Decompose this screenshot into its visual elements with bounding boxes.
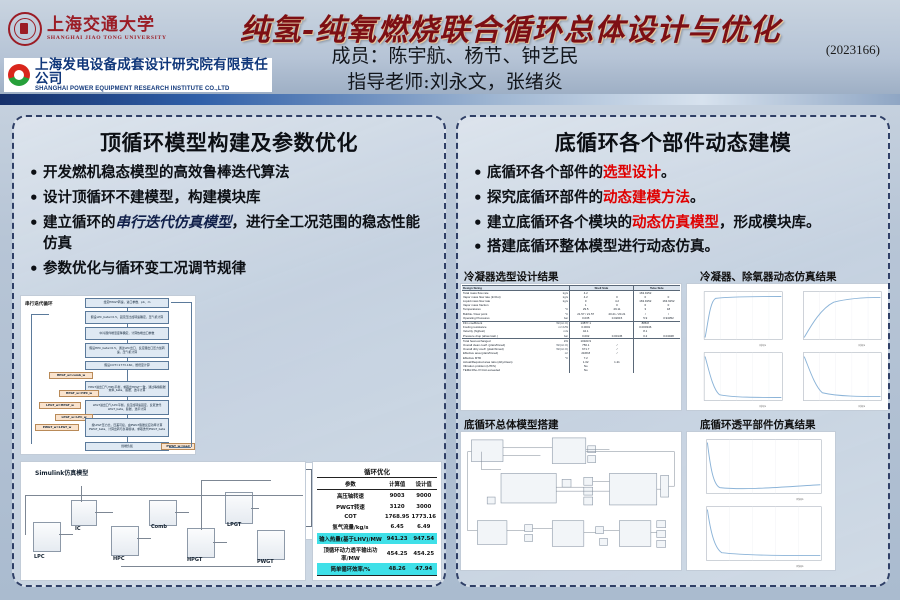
bullet-item: 建立循环的串行迭代仿真模型，进行全工况范围的稳态性能仿真 xyxy=(28,213,434,257)
table-row: 简单循环效率/%48.2647.94 xyxy=(317,563,437,575)
table-cell: 氢气流量/kg/s xyxy=(317,522,384,533)
table-cell: 47.94 xyxy=(410,563,437,575)
simulink-block-label-lpc: LPC xyxy=(34,554,45,560)
bullet-item: 设计顶循环不建模型，构建模块库 xyxy=(28,188,434,210)
hx-row: TEMA Rho-V² limit exceededNo xyxy=(462,369,680,373)
svg-text:时间/s: 时间/s xyxy=(796,564,804,568)
bullet-item: 探究底循环部件的动态建模方法。 xyxy=(472,188,878,210)
sjtu-seal-icon xyxy=(8,12,42,46)
simulink-block-label-hpc: HPC xyxy=(113,556,125,562)
svg-text:时间/s: 时间/s xyxy=(859,404,866,408)
flow-box: 给定PWGT转速，进口参数、pb、m xyxy=(85,298,169,308)
table-cell: COT xyxy=(317,513,384,522)
table-cell: 6.49 xyxy=(410,522,437,533)
simulink-block xyxy=(187,528,215,558)
simulink-block xyxy=(257,530,285,560)
serial-iteration-flowchart: 串行迭代循环 给定PWGT转速，进口参数、pb、m 假设LPC_beta=0.5… xyxy=(20,295,196,455)
simulink-block-label-lpgt: LPGT xyxy=(227,522,241,528)
right-panel-title: 底循环各个部件动态建模 xyxy=(458,127,888,157)
table-cell: 1773.16 xyxy=(410,513,437,522)
authors-block: 成员：陈宇航、杨节、钟艺民 指导老师:刘永文，张绪炎 xyxy=(175,44,735,95)
flow-box: 终端负载 xyxy=(85,442,169,451)
table-header-row: 参数计算值设计值 xyxy=(317,478,437,490)
cycle-optimization-table: 循环优化 参数计算值设计值 高压轴转速90039000PWGT转速3120300… xyxy=(317,464,437,576)
flow-box: 假设COT=1773.16K，燃烧室计算 xyxy=(85,361,169,370)
flow-box: 按LPGT压力比，压差可接，由PWGT膨胀反应功率计算PWGT_beta、计算出… xyxy=(85,418,169,437)
table-cell: 3120 xyxy=(384,501,411,512)
right-bullet-list: 底循环各个部件的选型设计。探究底循环部件的动态建模方法。建立底循环各个模块的动态… xyxy=(458,163,888,259)
bullet-item: 参数优化与循环变工况调节规律 xyxy=(28,259,434,281)
caption-condenser-dynamic: 冷凝器、除氧器动态仿真结果 xyxy=(700,269,837,284)
simulink-block xyxy=(111,526,139,556)
condenser-dynamic-charts: 时间/s时间/s 时间/s时间/s xyxy=(686,283,890,411)
hx-tube-value xyxy=(633,369,657,373)
table-cell: 简单循环效率/% xyxy=(317,563,384,575)
table-row: 输入热量(基于LHV)/MW941.23947.54 xyxy=(317,533,437,544)
bullet-text: 。 xyxy=(690,190,705,206)
bullet-text: 底循环各个部件的 xyxy=(487,165,603,181)
simulink-label: Simulink仿真模型 xyxy=(35,468,88,477)
flow-box: 假设LPC_beta=0.5，固定压比加转速确定，压气机计算 xyxy=(85,311,169,324)
table-cell: 1768.95 xyxy=(384,513,411,522)
table-cell: 6.45 xyxy=(384,522,411,533)
bullet-emphasis-italic: 串行迭代仿真模型 xyxy=(116,215,232,231)
bullet-text: 探究底循环部件的 xyxy=(487,190,603,206)
table-cell: 3000 xyxy=(410,501,437,512)
table-cell: 947.54 xyxy=(410,533,437,544)
table-cell: 高压轴转速 xyxy=(317,490,384,502)
cycle-optimization-table-figure: 循环优化 参数计算值设计值 高压轴转速90039000PWGT转速3120300… xyxy=(312,461,442,581)
caption-turbine-sim: 底循环透平部件仿真结果 xyxy=(700,417,816,432)
simulink-block xyxy=(33,522,61,552)
table-cell: PWGT转速 xyxy=(317,501,384,512)
table-row: 氢气流量/kg/s6.456.49 xyxy=(317,522,437,533)
simulink-block-label-hpgt: HPGT xyxy=(187,557,202,563)
bullet-item: 搭建底循环整体模型进行动态仿真。 xyxy=(472,237,878,259)
bullet-emphasis-red: 动态仿真模型 xyxy=(632,215,719,231)
turbine-sim-svg: 时间/s时间/s xyxy=(689,434,833,568)
svg-text:时间/s: 时间/s xyxy=(859,343,866,347)
table-row: PWGT转速31203000 xyxy=(317,501,437,512)
table-cell: 941.23 xyxy=(384,533,411,544)
poster-title: 纯氢-纯氧燃烧联合循环总体设计与优化 xyxy=(155,5,865,49)
table-row: 高压轴转速90039000 xyxy=(317,490,437,502)
hx-tube-value xyxy=(657,369,680,373)
bullet-emphasis-red: 动态建模方法 xyxy=(603,190,690,206)
table-row: COT1768.951773.16 xyxy=(317,513,437,522)
simulink-block xyxy=(149,500,177,526)
bullet-text: 开发燃机稳态模型的高效鲁棒迭代算法 xyxy=(43,165,290,181)
flowchart-label: 串行迭代循环 xyxy=(25,301,53,307)
advisors-line: 指导老师:刘永文，张绪炎 xyxy=(175,70,735,96)
table-column-header: 参数 xyxy=(317,478,384,490)
sjtu-name-en: SHANGHAI JIAO TONG UNIVERSITY xyxy=(47,36,167,42)
bullet-emphasis-red: 选型设计 xyxy=(603,165,661,181)
svg-text:时间/s: 时间/s xyxy=(759,404,766,408)
hx-shell-value xyxy=(601,369,633,373)
sjtu-logo: 上海交通大学 SHANGHAI JIAO TONG UNIVERSITY xyxy=(8,12,167,46)
speri-mark-icon xyxy=(8,64,30,86)
table-cell: 48.26 xyxy=(384,563,411,575)
table-body: 高压轴转速90039000PWGT转速31203000COT1768.95177… xyxy=(317,490,437,575)
table-row: 顶循环动力透平输出功率/MW454.25454.25 xyxy=(317,544,437,563)
header-accent-band xyxy=(0,94,900,105)
bullet-text: 建立循环的 xyxy=(43,215,116,231)
bullet-text: 建立底循环各个模块的 xyxy=(487,215,632,231)
hx-row-unit xyxy=(546,369,569,373)
bottom-cycle-simulink-figure xyxy=(460,431,682,571)
poster-canvas: 上海交通大学 SHANGHAI JIAO TONG UNIVERSITY 上海发… xyxy=(0,0,900,600)
bullet-item: 建立底循环各个模块的动态仿真模型，形成模块库。 xyxy=(472,213,878,235)
flow-box: 假设HPC_beta=0.5，通过LPC出口、反应器出口压力加转速，压气机计算 xyxy=(85,343,169,358)
simulink-block xyxy=(71,500,97,526)
bullet-item: 开发燃机稳态模型的高效鲁棒迭代算法 xyxy=(28,163,434,185)
dynamic-sim-svg: 时间/s时间/s 时间/s时间/s xyxy=(689,286,887,408)
heat-exchanger-spec-figure: Design SizingShell SideTube SideTotal ma… xyxy=(460,283,682,411)
bullet-text: 参数优化与循环变工况调节规律 xyxy=(43,261,246,277)
flow-box-condition: HPGT_w=HPC_w xyxy=(59,390,99,397)
simulink-block-label-comb: Comb xyxy=(151,524,167,530)
hx-row-label: TEMA Rho-V² limit exceeded xyxy=(462,369,546,373)
table-column-header: 计算值 xyxy=(384,478,411,490)
table-caption: 循环优化 xyxy=(317,464,437,477)
hx-shell-value: No xyxy=(570,369,602,373)
right-panel: 底循环各个部件动态建模 底循环各个部件的选型设计。探究底循环部件的动态建模方法。… xyxy=(456,115,890,587)
sjtu-name-cn: 上海交通大学 xyxy=(47,17,167,34)
bullet-item: 底循环各个部件的选型设计。 xyxy=(472,163,878,185)
turbine-sim-charts: 时间/s时间/s xyxy=(686,431,836,571)
caption-bottom-model: 底循环总体模型搭建 xyxy=(464,417,559,432)
project-code: (2023166) xyxy=(826,42,880,58)
table-cell: 输入热量(基于LHV)/MW xyxy=(317,533,384,544)
flow-box: 中冷器件端温度降确定，计算热端出口参数 xyxy=(85,327,169,340)
flow-box: LPGT进出口气/LPC平衡，反应加转速固定，反复迭代LPGT_beta、膨胀、… xyxy=(85,400,169,415)
simulink-model-figure: Simulink仿真模型 LPC IC HPC Comb HPGT LPGT P… xyxy=(20,461,306,581)
left-panel: 顶循环模型构建及参数优化 开发燃机稳态模型的高效鲁棒迭代算法设计顶循环不建模型，… xyxy=(12,115,446,587)
table-cell: 454.25 xyxy=(410,544,437,563)
left-bullet-list: 开发燃机稳态模型的高效鲁棒迭代算法设计顶循环不建模型，构建模块库建立循环的串行迭… xyxy=(14,163,444,281)
members-line: 成员：陈宇航、杨节、钟艺民 xyxy=(175,44,735,70)
table-cell: 9003 xyxy=(384,490,411,502)
bullet-text: 。 xyxy=(661,165,676,181)
table-cell: 454.25 xyxy=(384,544,411,563)
heat-exchanger-spec-table: Design SizingShell SideTube SideTotal ma… xyxy=(462,285,680,373)
svg-text:时间/s: 时间/s xyxy=(796,497,804,501)
table-cell: 顶循环动力透平输出功率/MW xyxy=(317,544,384,563)
table-column-header: 设计值 xyxy=(410,478,437,490)
bullet-text: 搭建底循环整体模型进行动态仿真。 xyxy=(487,239,719,255)
poster-header: 上海交通大学 SHANGHAI JIAO TONG UNIVERSITY 上海发… xyxy=(0,0,900,105)
svg-text:时间/s: 时间/s xyxy=(759,343,766,347)
flow-box-condition: HPGT_w≈comb_w xyxy=(49,372,93,379)
bullet-text: ，形成模块库。 xyxy=(719,215,821,231)
caption-condenser-design: 冷凝器选型设计结果 xyxy=(464,269,559,284)
table-cell: 9000 xyxy=(410,490,437,502)
flow-box-condition: LPGT_w≈HPGT_w xyxy=(39,402,81,409)
bottom-simulink-svg xyxy=(461,432,681,570)
simulink-block-label-pwgt: PWGT xyxy=(257,559,274,565)
bullet-text: 设计顶循环不建模型，构建模块库 xyxy=(43,190,261,206)
simulink-block xyxy=(225,492,253,524)
left-panel-title: 顶循环模型构建及参数优化 xyxy=(14,127,444,157)
simulink-block-label-ic: IC xyxy=(75,526,81,532)
flow-box-condition: PWGT_w≈LPGT_w xyxy=(35,424,79,431)
